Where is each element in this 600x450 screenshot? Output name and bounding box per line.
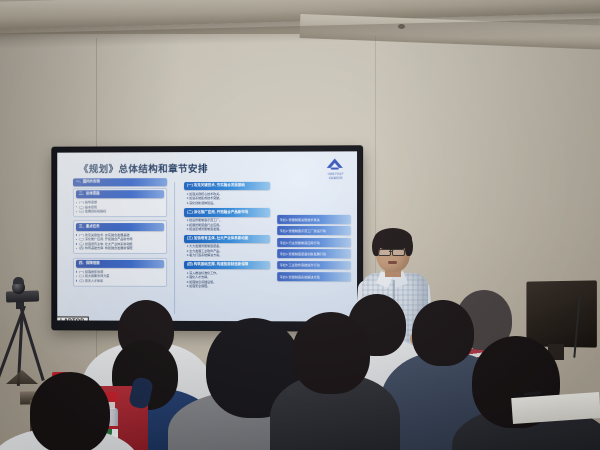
- classroom-photo-scene: 《规划》总体结构和章节安排 中国电子信息产业发展研究院 一、国内外形势 二、总体…: [0, 0, 600, 450]
- slide-section-header: 一、国内外形势: [73, 178, 167, 186]
- slide-sub-item: (三) 完善人才体系: [76, 278, 164, 283]
- slide-feature-box: 专栏5 工业软件突破提升行动: [277, 261, 351, 270]
- slide-task-item: 3.深化创新载体建设。: [184, 201, 270, 206]
- ceiling-sensor-icon: [398, 24, 405, 29]
- glasses-icon: [392, 249, 405, 256]
- slide-sub-item: (四) 构筑基础支撑, 构建融合发展新保障: [76, 246, 164, 251]
- organization-logo-icon: 中国电子信息产业发展研究院: [327, 158, 345, 175]
- slide-feature-box: 专栏6 智能制造系统解决方案: [277, 272, 351, 281]
- slide-section-header: 二、总体思路: [76, 190, 164, 198]
- slide-section-header: 四、保障措施: [76, 260, 164, 268]
- slide-column-middle: (一) 攻克关键技术, 夯实融合发展基础 1.加强关键核心技术攻关。 2.加速系…: [184, 182, 270, 289]
- camera-mic: [13, 277, 24, 284]
- slide-title: 《规划》总体结构和章节安排: [79, 161, 208, 175]
- slide-sub-item: (三) 发展目标和指标: [76, 209, 164, 214]
- slide-feature-box: 专栏1 智能制造关键技术攻关: [277, 215, 351, 224]
- slide-task-item: 4.加强安全保障。: [184, 284, 270, 289]
- slide-column-left: 一、国内外形势 二、总体思路 (一) 指导思想 (二) 基本原则 (三) 发展目…: [73, 178, 167, 290]
- slide-task-header: (三) 加强培育主体, 壮大产业体系新动能: [184, 235, 270, 243]
- slide-task-header: (二) 深化推广应用, 开拓融合产品新市场: [184, 208, 270, 216]
- slide-task-item: 3.促进区域智能制造发展。: [184, 227, 270, 232]
- presenter-mouth: [388, 261, 397, 264]
- glasses-bridge: [389, 251, 392, 252]
- slide-feature-box: 专栏2 智能制造示范工厂建设行动: [277, 226, 351, 235]
- slide-task-header: (四) 构筑基础支撑, 构建智能制造新保障: [184, 261, 270, 269]
- slide-section-box: 二、总体思路 (一) 指导思想 (二) 基本原则 (三) 发展目标和指标: [73, 188, 167, 217]
- slide-section-box: 三、重点任务 (一) 攻克关键技术, 夯实融合发展基础 (二) 深化推广应用, …: [73, 220, 167, 253]
- list-item: [270, 312, 400, 450]
- slide-column-right: 专栏1 智能制造关键技术攻关 专栏2 智能制造示范工厂建设行动 专栏3 行业智能…: [277, 215, 351, 284]
- slide-task-header: (一) 攻克关键技术, 夯实融合发展基础: [184, 182, 270, 190]
- slide-feature-box: 专栏3 行业智能制造应用行动: [277, 238, 351, 247]
- slide-section-box: 四、保障措施 (一) 加强统筹协调 (二) 加大政策支持力度 (三) 完善人才体…: [73, 257, 167, 286]
- slide-feature-box: 专栏4 智能制造装备创新发展行动: [277, 249, 351, 258]
- slide-section-header: 三、重点任务: [76, 223, 164, 231]
- slide-task-item: 3.着力打造系统解决方案。: [184, 253, 270, 258]
- presenter-hair-side-right: [405, 236, 413, 256]
- logo-caption: 中国电子信息产业发展研究院: [327, 172, 345, 180]
- attendee-head: [292, 312, 370, 394]
- attendee-head: [30, 372, 110, 450]
- display-screen: 《规划》总体结构和章节安排 中国电子信息产业发展研究院 一、国内外形势 二、总体…: [57, 151, 357, 321]
